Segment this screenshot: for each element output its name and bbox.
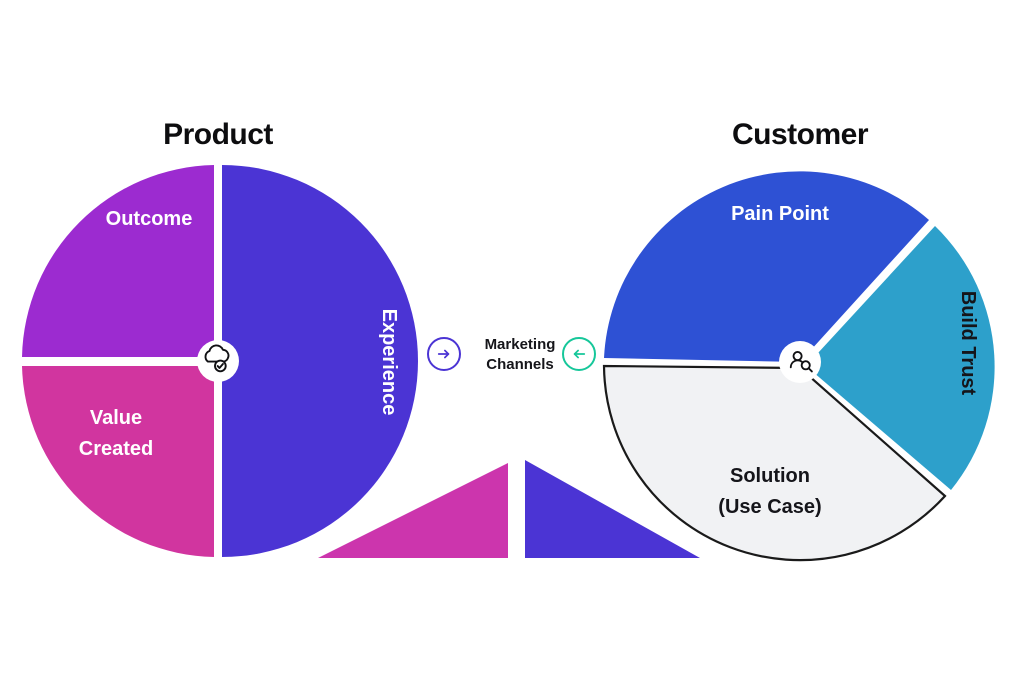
label-value-created-line2: Created bbox=[79, 438, 153, 460]
diagram-canvas: Outcome Value Created Experience Pain Po… bbox=[0, 0, 1024, 678]
label-build-trust: Build Trust bbox=[957, 291, 979, 396]
label-pain-point: Pain Point bbox=[731, 203, 829, 225]
label-outcome: Outcome bbox=[106, 208, 193, 230]
label-experience: Experience bbox=[378, 309, 400, 416]
page-title-customer: Customer bbox=[700, 118, 900, 152]
arrow-right-icon[interactable] bbox=[427, 337, 461, 371]
page-title-product: Product bbox=[118, 118, 318, 152]
label-value-created-line1: Value bbox=[90, 407, 142, 429]
label-solution-line1: Solution bbox=[730, 465, 810, 487]
label-solution-line2: (Use Case) bbox=[718, 496, 821, 518]
arrow-left-icon[interactable] bbox=[562, 337, 596, 371]
